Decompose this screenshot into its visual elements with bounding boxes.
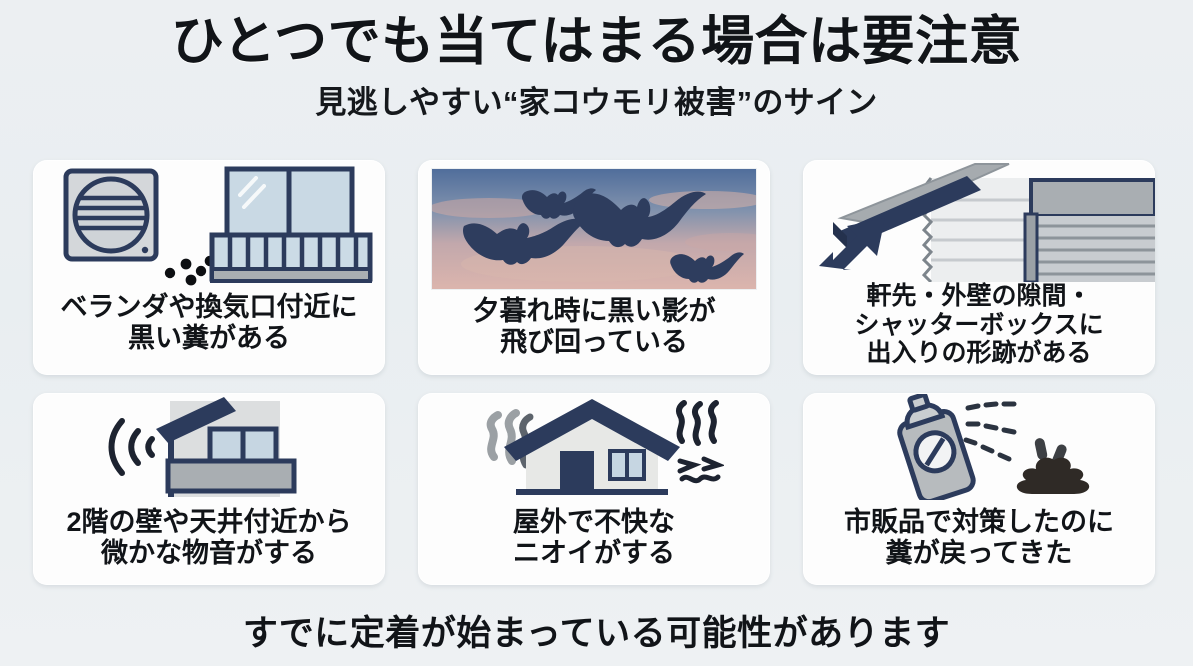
caption-line-1: 屋外で不快な bbox=[513, 507, 675, 538]
page-subtitle: 見逃しやすい“家コウモリ被害”のサイン bbox=[0, 77, 1193, 122]
card-caption: ベランダや換気口付近に 黒い糞がある bbox=[53, 292, 366, 355]
caption-line-2: 糞が戻ってきた bbox=[844, 538, 1114, 569]
bats-at-dusk-photo bbox=[431, 168, 757, 290]
infographic-page: ひとつでも当てはまる場合は要注意 見逃しやすい“家コウモリ被害”のサイン bbox=[0, 0, 1193, 666]
caption-line-2: ニオイがする bbox=[513, 538, 675, 569]
sound-waves-house-icon bbox=[84, 395, 334, 499]
card-spray-failed[interactable]: 市販品で対策したのに 糞が戻ってきた bbox=[803, 393, 1155, 585]
caption-line-1: 2階の壁や天井付近から bbox=[66, 507, 351, 538]
card-caption: 屋外で不快な ニオイがする bbox=[505, 507, 683, 570]
card-illustration bbox=[803, 393, 1155, 501]
card-noise-second-floor[interactable]: 2階の壁や天井付近から 微かな物音がする bbox=[33, 393, 385, 585]
card-outdoor-odor[interactable]: 屋外で不快な ニオイがする bbox=[418, 393, 770, 585]
caption-line-1: 市販品で対策したのに bbox=[844, 507, 1114, 538]
caption-line-2: 微かな物音がする bbox=[66, 538, 351, 569]
card-dusk-bats[interactable]: 夕暮れ時に黒い影が 飛び回っている bbox=[418, 160, 770, 375]
card-illustration bbox=[418, 160, 770, 292]
card-eaves-gap[interactable]: 軒先・外壁の隙間・ シャッターボックスに 出入りの形跡がある bbox=[803, 160, 1155, 375]
spray-can-droppings-icon bbox=[854, 394, 1104, 500]
card-illustration bbox=[33, 393, 385, 501]
roof-eaves-shutter-box-arrow-icon bbox=[803, 162, 1155, 282]
footer-message: すでに定着が始まっている可能性があります bbox=[0, 605, 1193, 656]
caption-line-2: 飛び回っている bbox=[473, 327, 716, 358]
card-vent-droppings[interactable]: ベランダや換気口付近に 黒い糞がある bbox=[33, 160, 385, 375]
caption-line-2: 黒い糞がある bbox=[61, 323, 358, 354]
card-illustration bbox=[418, 393, 770, 501]
caption-line-1: 軒先・外壁の隙間・ bbox=[854, 282, 1103, 311]
vent-fan-balcony-droppings-icon bbox=[44, 161, 374, 287]
signs-grid: ベランダや換気口付近に 黒い糞がある bbox=[33, 160, 1160, 585]
header: ひとつでも当てはまる場合は要注意 見逃しやすい“家コウモリ被害”のサイン bbox=[0, 0, 1193, 122]
card-illustration bbox=[33, 160, 385, 288]
card-caption: 軒先・外壁の隙間・ シャッターボックスに 出入りの形跡がある bbox=[846, 282, 1111, 368]
house-bad-smell-icon bbox=[464, 395, 724, 499]
card-caption: 2階の壁や天井付近から 微かな物音がする bbox=[58, 507, 359, 570]
caption-line-2: シャッターボックスに bbox=[854, 311, 1103, 340]
card-caption: 市販品で対策したのに 糞が戻ってきた bbox=[836, 507, 1122, 570]
caption-line-1: ベランダや換気口付近に bbox=[61, 292, 358, 323]
card-caption: 夕暮れ時に黒い影が 飛び回っている bbox=[465, 296, 724, 359]
page-title: ひとつでも当てはまる場合は要注意 bbox=[0, 14, 1193, 70]
card-illustration bbox=[803, 160, 1155, 282]
caption-line-1: 夕暮れ時に黒い影が bbox=[473, 296, 716, 327]
caption-line-3: 出入りの形跡がある bbox=[854, 339, 1103, 368]
